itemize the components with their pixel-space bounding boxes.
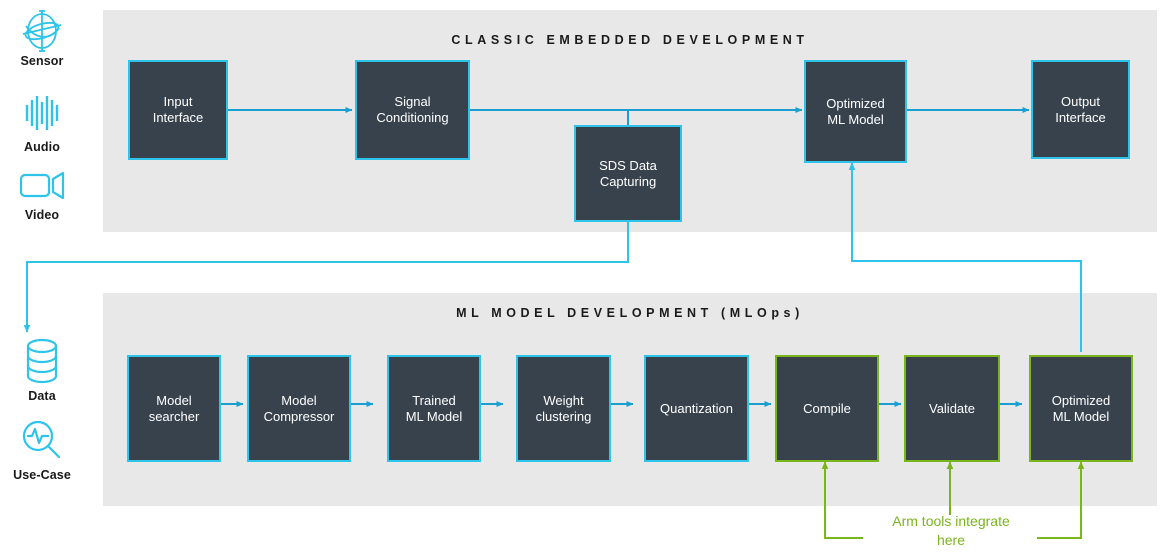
sidebar-item-label: Use-Case [0,468,84,482]
audio-waveform-icon [0,92,84,138]
node-weight-clustering[interactable]: Weight clustering [516,355,611,462]
path-mlops-to-embedded [852,163,1081,352]
node-label: Optimized ML Model [826,96,885,128]
node-label: Trained ML Model [406,393,463,425]
sidebar-item-label: Audio [0,140,84,154]
green-pointer-optimized [1037,462,1081,538]
node-label: Output Interface [1055,94,1106,126]
node-sds-data-capturing[interactable]: SDS Data Capturing [574,125,682,222]
node-signal-conditioning[interactable]: Signal Conditioning [355,60,470,160]
sidebar-item-data[interactable]: Data [0,337,84,403]
node-label: Input Interface [153,94,204,126]
node-output-interface[interactable]: Output Interface [1031,60,1130,159]
node-optimized-ml-model-top[interactable]: Optimized ML Model [804,60,907,163]
node-validate[interactable]: Validate [904,355,1000,462]
node-model-searcher[interactable]: Model searcher [127,355,221,462]
node-optimized-ml-model-bottom[interactable]: Optimized ML Model [1029,355,1133,462]
magnifier-pulse-icon [0,418,84,466]
sidebar-item-label: Sensor [0,54,84,68]
sidebar-item-label: Data [0,389,84,403]
path-sds-to-data [27,222,628,332]
node-label: Validate [929,401,975,417]
sidebar-item-video[interactable]: Video [0,168,84,222]
sensor-gyroscope-icon [0,6,84,52]
arm-tools-annotation: Arm tools integrate here [866,512,1036,550]
node-input-interface[interactable]: Input Interface [128,60,228,160]
node-label: SDS Data Capturing [599,158,657,190]
sidebar-item-label: Video [0,208,84,222]
database-cylinder-icon [0,337,84,387]
node-label: Compile [803,401,851,417]
node-model-compressor[interactable]: Model Compressor [247,355,351,462]
sidebar-item-use-case[interactable]: Use-Case [0,418,84,482]
sidebar-item-audio[interactable]: Audio [0,92,84,154]
node-label: Weight clustering [536,393,592,425]
node-quantization[interactable]: Quantization [644,355,749,462]
sidebar-item-sensor[interactable]: Sensor [0,6,84,68]
node-label: Signal Conditioning [376,94,448,126]
node-label: Model Compressor [264,393,335,425]
node-trained-ml-model[interactable]: Trained ML Model [387,355,481,462]
node-label: Model searcher [149,393,200,425]
video-camera-icon [0,168,84,206]
diagram-canvas: CLASSIC EMBEDDED DEVELOPMENT ML MODEL DE… [0,0,1168,560]
node-compile[interactable]: Compile [775,355,879,462]
green-pointer-compile [825,462,863,538]
node-label: Quantization [660,401,733,417]
node-label: Optimized ML Model [1052,393,1111,425]
